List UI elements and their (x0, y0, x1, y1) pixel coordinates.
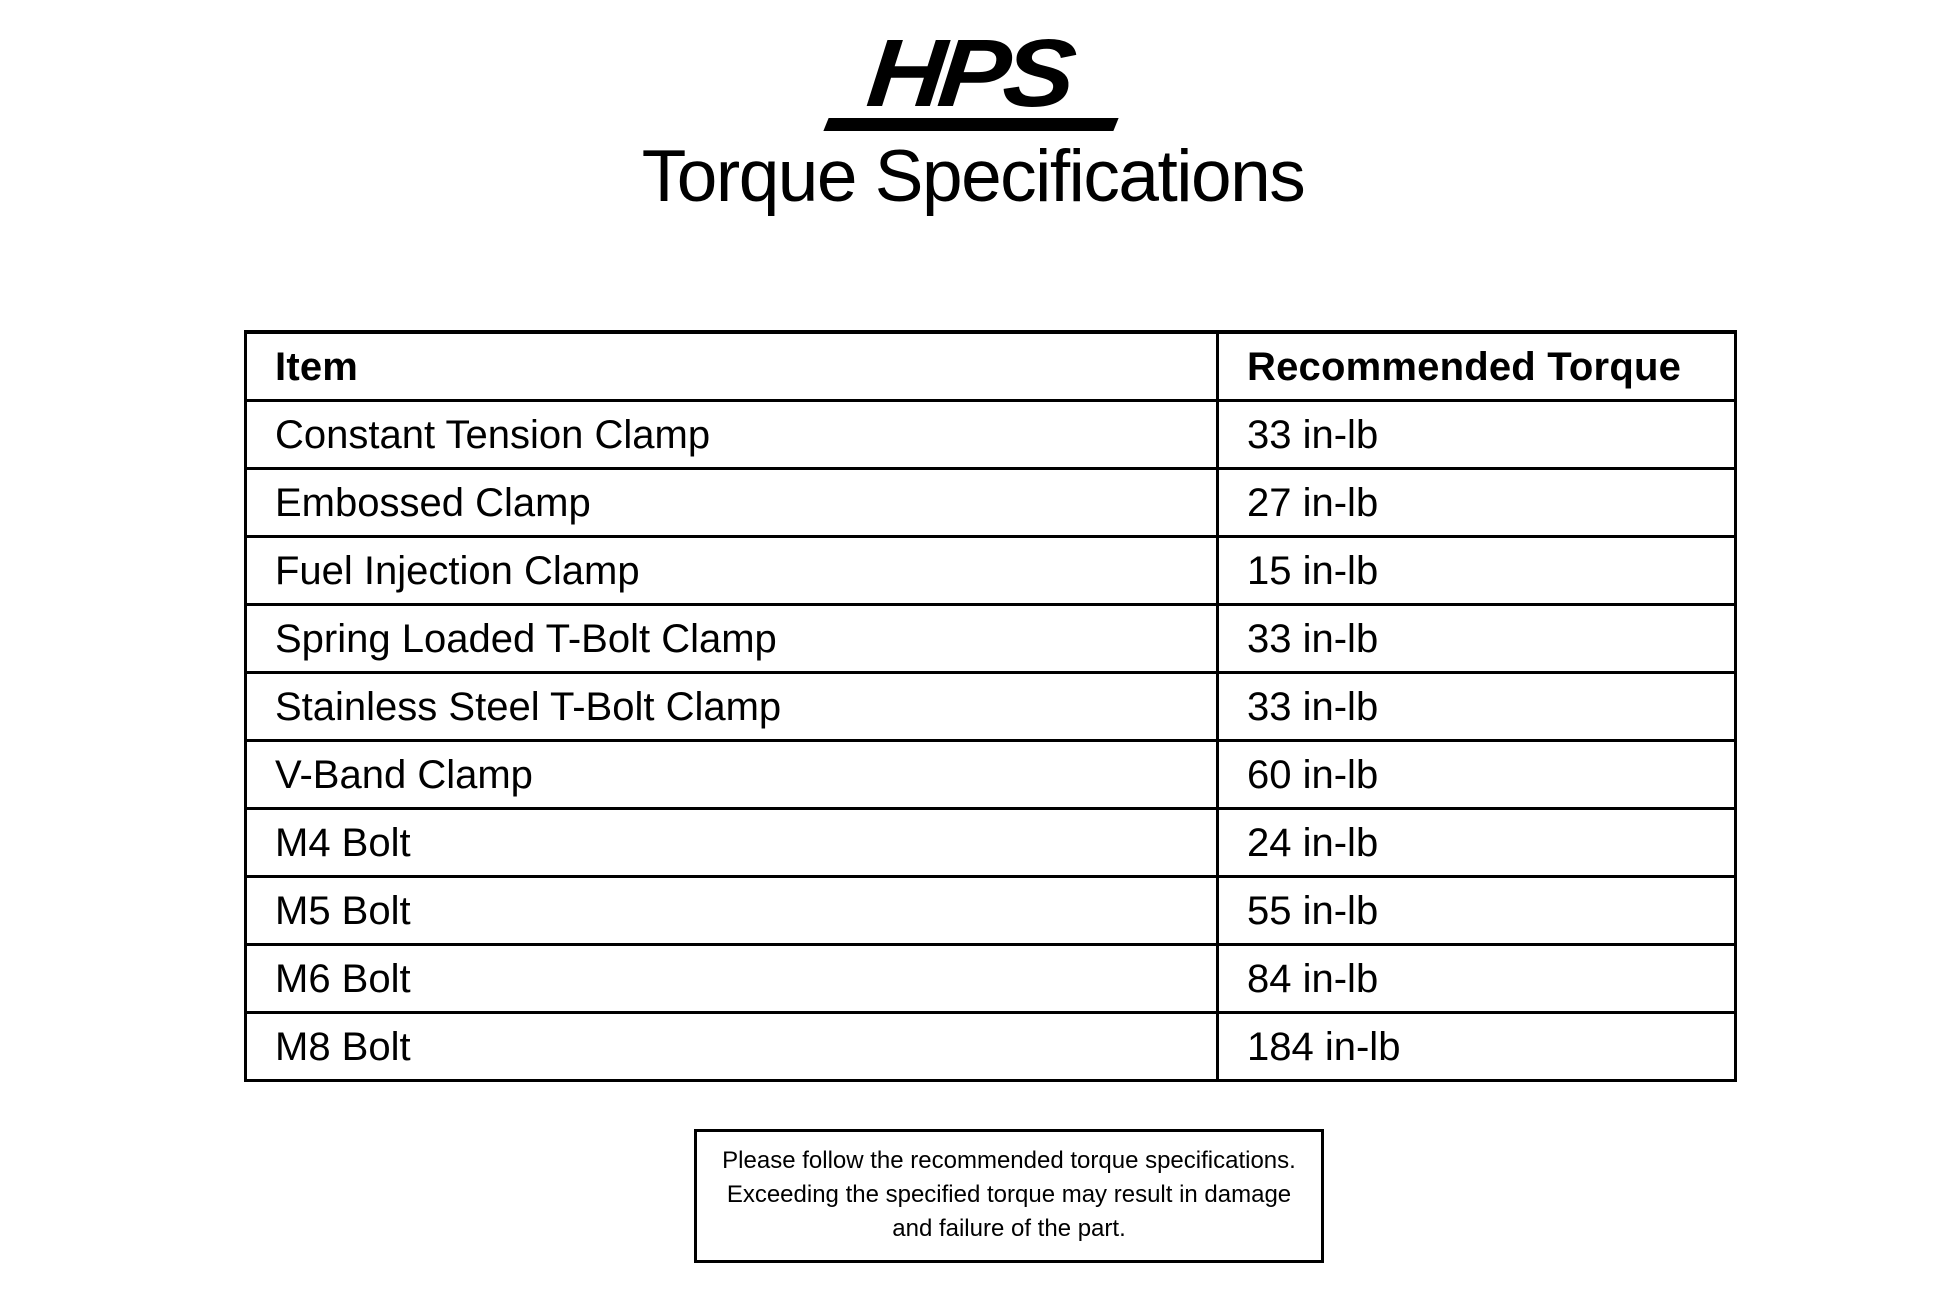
hps-logo-wordmark: HPS (790, 26, 1147, 122)
table-row: Fuel Injection Clamp 15 in-lb (246, 537, 1736, 605)
cell-item: M6 Bolt (246, 945, 1218, 1013)
hps-logo-mark: HPS (818, 34, 1128, 134)
footnote-line-3: and failure of the part. (711, 1212, 1307, 1246)
table-row: M6 Bolt 84 in-lb (246, 945, 1736, 1013)
cell-torque: 27 in-lb (1218, 469, 1736, 537)
cell-item: Stainless Steel T-Bolt Clamp (246, 673, 1218, 741)
cell-item: Spring Loaded T-Bolt Clamp (246, 605, 1218, 673)
footnote-line-2: Exceeding the specified torque may resul… (711, 1178, 1307, 1212)
table-row: M4 Bolt 24 in-lb (246, 809, 1736, 877)
table-header-row: Item Recommended Torque (246, 332, 1736, 401)
cell-item: Constant Tension Clamp (246, 401, 1218, 469)
table-row: Embossed Clamp 27 in-lb (246, 469, 1736, 537)
cell-torque: 184 in-lb (1218, 1013, 1736, 1081)
brand-logo: HPS (0, 0, 1946, 118)
table-row: Constant Tension Clamp 33 in-lb (246, 401, 1736, 469)
cell-item: V-Band Clamp (246, 741, 1218, 809)
hps-logo-underbar-icon (823, 118, 1118, 131)
cell-torque: 33 in-lb (1218, 605, 1736, 673)
table-row: M8 Bolt 184 in-lb (246, 1013, 1736, 1081)
footnote-line-1: Please follow the recommended torque spe… (711, 1144, 1307, 1178)
table-row: Spring Loaded T-Bolt Clamp 33 in-lb (246, 605, 1736, 673)
cell-item: Fuel Injection Clamp (246, 537, 1218, 605)
cell-torque: 33 in-lb (1218, 401, 1736, 469)
table-header: Item Recommended Torque (246, 332, 1736, 401)
table-row: Stainless Steel T-Bolt Clamp 33 in-lb (246, 673, 1736, 741)
cell-torque: 33 in-lb (1218, 673, 1736, 741)
cell-torque: 15 in-lb (1218, 537, 1736, 605)
cell-item: M5 Bolt (246, 877, 1218, 945)
torque-spec-table-container: Item Recommended Torque Constant Tension… (244, 330, 1734, 1082)
torque-spec-table: Item Recommended Torque Constant Tension… (244, 330, 1737, 1082)
cell-torque: 84 in-lb (1218, 945, 1736, 1013)
column-header-item: Item (246, 332, 1218, 401)
column-header-recommended-torque: Recommended Torque (1218, 332, 1736, 401)
cell-torque: 60 in-lb (1218, 741, 1736, 809)
cell-item: Embossed Clamp (246, 469, 1218, 537)
cell-item: M4 Bolt (246, 809, 1218, 877)
page-title: Torque Specifications (0, 140, 1946, 213)
footnote-warning-box: Please follow the recommended torque spe… (694, 1129, 1324, 1263)
cell-item: M8 Bolt (246, 1013, 1218, 1081)
table-row: V-Band Clamp 60 in-lb (246, 741, 1736, 809)
table-body: Constant Tension Clamp 33 in-lb Embossed… (246, 401, 1736, 1081)
cell-torque: 24 in-lb (1218, 809, 1736, 877)
cell-torque: 55 in-lb (1218, 877, 1736, 945)
table-row: M5 Bolt 55 in-lb (246, 877, 1736, 945)
